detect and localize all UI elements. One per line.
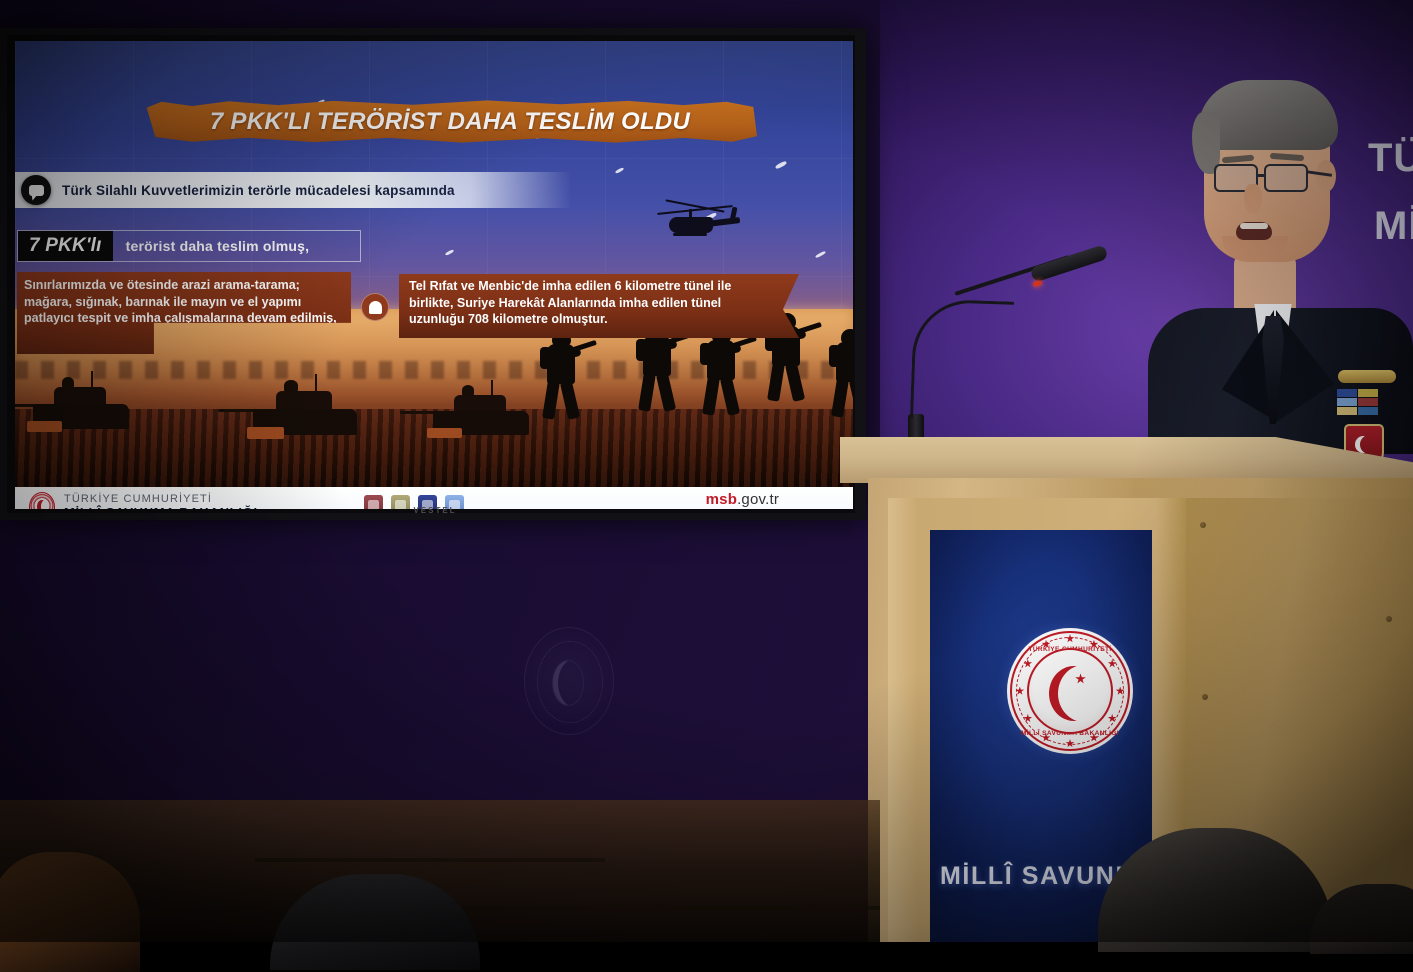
- submarine-insignia-icon: [1338, 370, 1396, 383]
- slide-title: 7 PKK'LI TERÖRİST DAHA TESLİM OLDU: [210, 108, 690, 136]
- slide-quote-text: Türk Silahlı Kuvvetlerimizin terörle müc…: [62, 183, 455, 198]
- wall-ministry-seal: [524, 627, 614, 735]
- soldier-silhouette: [627, 323, 687, 423]
- soldier-silhouette: [821, 329, 853, 425]
- ministry-seal-icon: [29, 492, 55, 509]
- slide-info-box-left-text: Sınırlarımızda ve ötesinde arazi arama-t…: [24, 277, 342, 327]
- slide-title-banner: 7 PKK'LI TERÖRİST DAHA TESLİM OLDU: [143, 100, 757, 143]
- tank-silhouette: [33, 387, 129, 429]
- highlight-chip: 7 PKK'lı: [18, 231, 113, 261]
- slide-quote-strip: Türk Silahlı Kuvvetlerimizin terörle müc…: [15, 172, 571, 208]
- podium-ministry-seal: TÜRKİYE CUMHURİYETİ MİLLÎ SAVUNMA BAKANL…: [1007, 628, 1133, 754]
- slide-info-box-right: Tel Rıfat ve Menbic'de imha edilen 6 kil…: [399, 274, 799, 338]
- speech-bubble-icon: [21, 175, 51, 205]
- footer-org-line2: MİLLÎ SAVUNMA BAKANLIĞI: [64, 506, 258, 509]
- slide-highlight-line: 7 PKK'lı terörist daha teslim olmuş,: [17, 230, 361, 262]
- footer-website-bold: msb: [706, 491, 737, 508]
- footer-web-block: msb.gov.tr ✕ f tcsavunma ◎ savunmabakanl…: [662, 491, 823, 510]
- slide-canvas: 7 PKK'LI TERÖRİST DAHA TESLİM OLDU Türk …: [15, 41, 853, 509]
- helicopter-icon: [655, 199, 741, 247]
- speaker-officer: [1148, 72, 1413, 452]
- soldier-silhouette: [691, 327, 751, 425]
- tank-silhouette: [433, 395, 529, 435]
- cave-shelter-icon: [361, 293, 389, 321]
- footer-website: msb.gov.tr: [662, 491, 823, 508]
- tank-silhouette: [253, 391, 357, 435]
- highlight-rest: terörist daha teslim olmuş,: [126, 238, 310, 254]
- tv-brand-logo: VESTEL: [400, 505, 470, 517]
- slide-info-box-right-text: Tel Rıfat ve Menbic'de imha edilen 6 kil…: [409, 278, 779, 328]
- soldier-silhouette: [531, 331, 591, 427]
- ribbon-bars: [1336, 388, 1398, 407]
- footer-website-rest: .gov.tr: [737, 491, 779, 508]
- presentation-screen: 7 PKK'LI TERÖRİST DAHA TESLİM OLDU Türk …: [0, 28, 866, 520]
- general-staff-emblem: [364, 495, 383, 510]
